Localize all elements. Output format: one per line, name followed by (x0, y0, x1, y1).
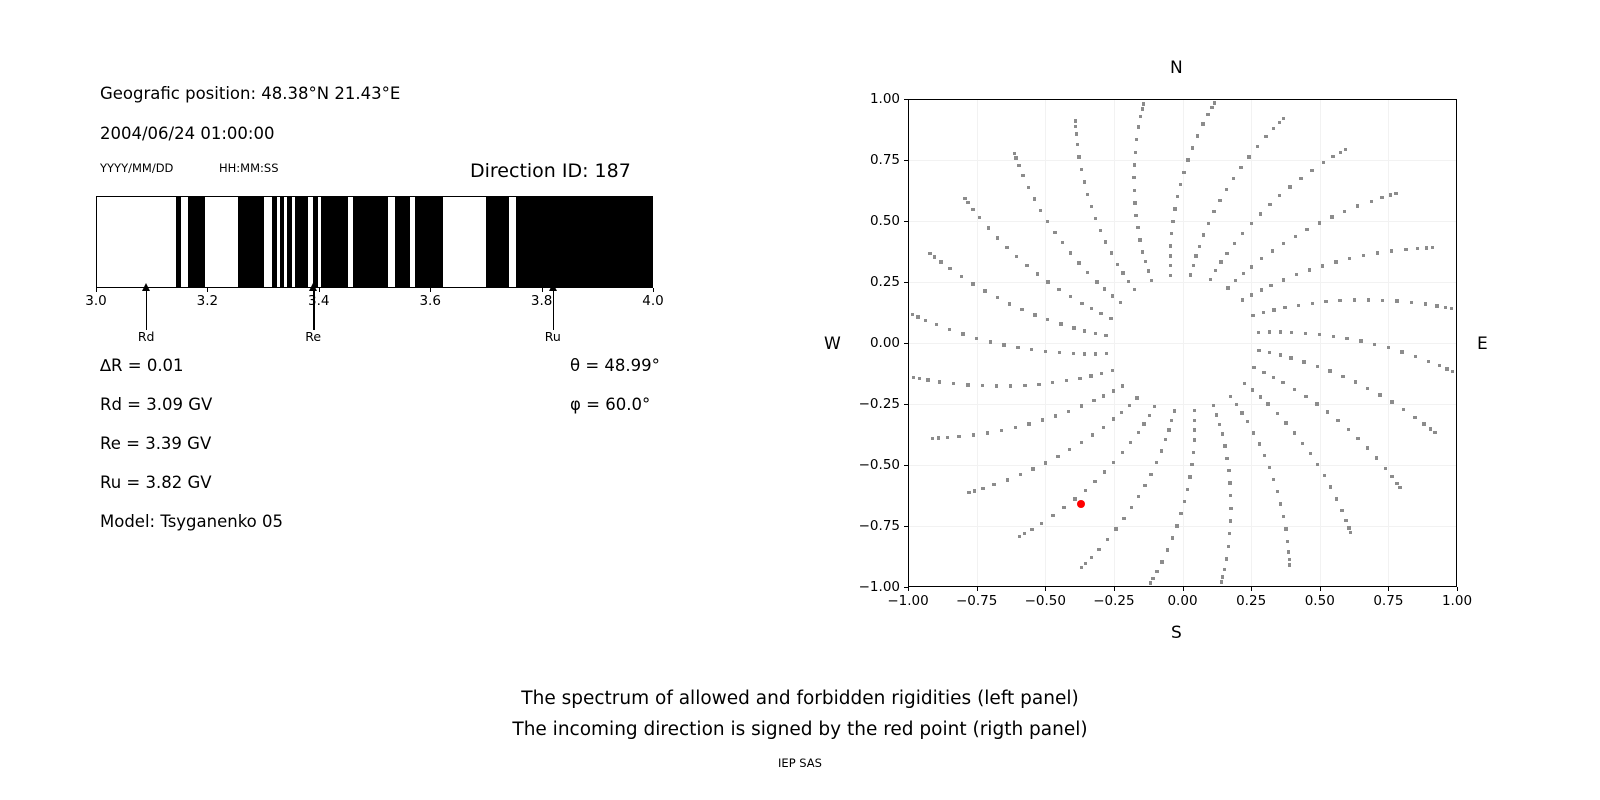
direction-dot (1182, 171, 1185, 174)
direction-dot (1201, 122, 1204, 125)
marker-stem (313, 286, 314, 330)
direction-dot (1310, 169, 1313, 172)
direction-dot (1311, 302, 1314, 305)
direction-dot (1213, 101, 1216, 104)
direction-dot (1109, 317, 1112, 320)
direction-dot (1433, 431, 1436, 434)
direction-dot (1315, 402, 1318, 405)
direction-dot (1141, 107, 1144, 110)
direction-dot (1104, 334, 1107, 337)
direction-dot (1023, 532, 1026, 535)
direction-dot (1133, 163, 1136, 166)
direction-dot (1225, 457, 1228, 460)
direction-dot (1023, 384, 1026, 387)
direction-dot (1210, 106, 1213, 109)
direction-dot (1169, 244, 1172, 247)
direction-dot (1229, 494, 1232, 497)
direction-dot (1212, 210, 1215, 213)
rigidity-tick (96, 288, 97, 292)
direction-dot (1142, 422, 1145, 425)
direction-dot (1103, 470, 1106, 473)
direction-dot (1008, 302, 1011, 305)
direction-dot (1305, 228, 1308, 231)
direction-dot (1086, 193, 1089, 196)
direction-dot (1262, 371, 1265, 374)
direction-dot (1080, 168, 1083, 171)
direction-dot (1030, 348, 1033, 351)
direction-dot (1281, 381, 1284, 384)
direction-dot (1340, 509, 1343, 512)
direction-dot (1276, 412, 1279, 415)
direction-dot (1247, 155, 1250, 158)
direction-dot (1119, 301, 1122, 304)
direction-dot (1179, 183, 1182, 186)
direction-dot (1106, 538, 1109, 541)
direction-dot (1366, 387, 1369, 390)
direction-dot (1268, 351, 1271, 354)
direction-dot (1295, 273, 1298, 276)
direction-dot (1059, 322, 1062, 325)
direction-dot (1193, 438, 1196, 441)
direction-dot (1287, 550, 1290, 553)
marker-stem (553, 286, 554, 330)
direction-dot (1065, 379, 1068, 382)
direction-dot (1366, 446, 1369, 449)
direction-dot (1169, 264, 1172, 267)
direction-dot (973, 489, 976, 492)
direction-dot (1334, 260, 1337, 263)
direction-dot (1002, 343, 1005, 346)
plot-x-tick (1388, 587, 1389, 591)
direction-dot (1293, 388, 1296, 391)
direction-dot (1394, 192, 1397, 195)
direction-dot (1084, 562, 1087, 565)
direction-dot (1272, 308, 1275, 311)
direction-dot (1246, 420, 1249, 423)
direction-dot (1196, 134, 1199, 137)
direction-dot (1111, 294, 1114, 297)
plot-y-tick (904, 282, 908, 283)
direction-dot (1171, 536, 1174, 539)
direction-dot (1166, 548, 1169, 551)
direction-dot (1069, 251, 1072, 254)
direction-dot (1051, 514, 1054, 517)
direction-dot (1173, 409, 1176, 412)
direction-dot (1318, 333, 1321, 336)
plot-y-tick (904, 221, 908, 222)
rigidity-tick (653, 288, 654, 292)
direction-dot (1240, 411, 1243, 414)
direction-dot (1424, 302, 1427, 305)
direction-dot (1151, 577, 1154, 580)
rigidity-tick (430, 288, 431, 292)
arrow-up-icon (309, 283, 317, 291)
direction-dot (1330, 215, 1333, 218)
forbidden-band (295, 196, 308, 288)
datetime-label: 2004/06/24 01:00:00 (100, 124, 274, 143)
date-format-hint: YYYY/MM/DD (100, 161, 173, 175)
direction-dot (1288, 563, 1291, 566)
direction-dot (1190, 463, 1193, 466)
direction-dot (1186, 158, 1189, 161)
direction-dot (1202, 233, 1205, 236)
direction-dot (1037, 383, 1040, 386)
direction-dot (1260, 288, 1263, 291)
direction-dot (971, 282, 974, 285)
direction-dot (1214, 269, 1217, 272)
direction-dot (1090, 307, 1093, 310)
direction-dot (1193, 409, 1196, 412)
direction-dot (1243, 382, 1246, 385)
forbidden-band (395, 196, 410, 288)
direction-dot (1212, 404, 1215, 407)
direction-dot (1080, 404, 1083, 407)
direction-dot (1014, 156, 1017, 159)
direction-dot (1099, 229, 1102, 232)
direction-dot (1241, 298, 1244, 301)
direction-dot (1133, 288, 1136, 291)
direction-dot (1036, 272, 1039, 275)
direction-dot (1083, 352, 1086, 355)
direction-dot (1005, 246, 1008, 249)
direction-dot (1160, 560, 1163, 563)
forbidden-band (353, 196, 388, 288)
direction-dot (1093, 480, 1096, 483)
direction-dot (1206, 113, 1209, 116)
plot-x-tick-label: 0.25 (1236, 593, 1266, 609)
direction-dot (1283, 306, 1286, 309)
direction-dot (1069, 295, 1072, 298)
direction-dot (1155, 461, 1158, 464)
plot-x-tick (1045, 587, 1046, 591)
direction-dot (975, 337, 978, 340)
marker-label: Re (305, 329, 321, 344)
direction-dot (1284, 527, 1287, 530)
direction-dot (1044, 350, 1047, 353)
direction-dot (1016, 346, 1019, 349)
direction-dot (1057, 288, 1060, 291)
direction-dot (1326, 410, 1329, 413)
direction-dot (1144, 260, 1147, 263)
compass-label-east: E (1477, 334, 1488, 354)
direction-dot (1189, 273, 1192, 276)
rigidity-tick-label: 3.6 (419, 293, 440, 309)
direction-dot (1173, 207, 1176, 210)
direction-dot (1153, 405, 1156, 408)
direction-dot (1194, 254, 1197, 257)
direction-dot (1268, 203, 1271, 206)
direction-dot (1143, 484, 1146, 487)
direction-dot (1301, 442, 1304, 445)
plot-y-tick (904, 343, 908, 344)
direction-dot (1321, 264, 1324, 267)
direction-dot (1323, 474, 1326, 477)
direction-dot (1390, 400, 1393, 403)
direction-dot (1304, 395, 1307, 398)
direction-dot (1083, 180, 1086, 183)
direction-dot (1188, 475, 1191, 478)
direction-dot (1288, 185, 1291, 188)
direction-dot (1389, 193, 1392, 196)
stat-delta-r: ∆R = 0.01 (100, 356, 184, 375)
direction-dot (1279, 502, 1282, 505)
direction-dot (933, 255, 936, 258)
direction-dot (1089, 374, 1092, 377)
direction-dot (981, 384, 984, 387)
direction-dot (1112, 461, 1115, 464)
direction-dot (1130, 506, 1133, 509)
rigidity-spectrum-bar (96, 196, 653, 288)
direction-dot (1336, 419, 1339, 422)
direction-dot (1074, 119, 1077, 122)
direction-dot (1444, 306, 1447, 309)
direction-dot (1054, 414, 1057, 417)
direction-dot (1147, 269, 1150, 272)
direction-dot (1242, 272, 1245, 275)
direction-dot (1094, 217, 1097, 220)
direction-dot (1068, 448, 1071, 451)
direction-dot (1373, 343, 1376, 346)
direction-dot (1263, 454, 1266, 457)
direction-dot (1252, 431, 1255, 434)
stat-model: Model: Tsyganenko 05 (100, 512, 283, 531)
direction-dot (1381, 299, 1384, 302)
direction-dot (1067, 410, 1070, 413)
direction-dot (1092, 399, 1095, 402)
direction-dot (1308, 268, 1311, 271)
direction-dot (972, 433, 975, 436)
direction-dot (1183, 500, 1186, 503)
direction-dot (1413, 416, 1416, 419)
direction-dot (1025, 264, 1028, 267)
direction-dot (1288, 558, 1291, 561)
direction-dot (1077, 155, 1080, 158)
plot-y-tick-label: −0.25 (859, 396, 900, 412)
direction-dot (1134, 151, 1137, 154)
direction-dot (1302, 360, 1305, 363)
direction-dot (1250, 222, 1253, 225)
stat-re: Re = 3.39 GV (100, 434, 211, 453)
direction-dot (1271, 249, 1274, 252)
rigidity-tick-label: 3.2 (197, 293, 218, 309)
direction-dot (1258, 442, 1261, 445)
direction-dot (1083, 329, 1086, 332)
direction-dot (1149, 581, 1152, 584)
direction-dot (1380, 196, 1383, 199)
rigidity-tick (542, 288, 543, 292)
direction-dot (1260, 257, 1263, 260)
direction-dot (1040, 522, 1043, 525)
rigidity-tick-label: 3.4 (308, 293, 329, 309)
plot-y-tick (904, 404, 908, 405)
direction-id-label: Direction ID: 187 (470, 160, 631, 182)
direction-dot (1251, 314, 1254, 317)
direction-dot (952, 382, 955, 385)
direction-dot (1370, 200, 1373, 203)
direction-dot (1279, 353, 1282, 356)
direction-dot (1136, 226, 1139, 229)
direction-dot (1164, 438, 1167, 441)
compass-label-north: N (1170, 58, 1183, 78)
direction-dot (1112, 417, 1115, 420)
forbidden-band (321, 196, 348, 288)
direction-dot (912, 376, 915, 379)
direction-dot (1209, 278, 1212, 281)
direction-dot (1228, 481, 1231, 484)
direction-dot (1331, 155, 1334, 158)
direction-dot (1031, 467, 1034, 470)
direction-dot (1234, 279, 1237, 282)
direction-dot (928, 252, 931, 255)
direction-dot (1104, 240, 1107, 243)
direction-dot (1013, 152, 1016, 155)
direction-dot (1427, 360, 1430, 363)
direction-dot (1072, 326, 1075, 329)
direction-dot (1347, 526, 1350, 529)
direction-dot (1384, 467, 1387, 470)
plot-y-tick (904, 160, 908, 161)
direction-dot (1345, 337, 1348, 340)
direction-dot (1192, 451, 1195, 454)
direction-dot (1058, 351, 1061, 354)
direction-dot (1438, 364, 1441, 367)
direction-dot (1095, 280, 1098, 283)
direction-dot (1192, 264, 1195, 267)
rigidity-tick-label: 4.0 (642, 293, 663, 309)
direction-dot (1272, 376, 1275, 379)
direction-dot (1030, 528, 1033, 531)
forbidden-band (486, 196, 509, 288)
direction-dot (1268, 466, 1271, 469)
rigidity-tick (319, 288, 320, 292)
direction-dot (1376, 251, 1379, 254)
direction-dot (1328, 369, 1331, 372)
marker-stem (146, 286, 147, 330)
direction-dot (1225, 188, 1228, 191)
direction-dot (1359, 339, 1362, 342)
direction-dot (996, 236, 999, 239)
direction-dot (1262, 311, 1265, 314)
stat-rd: Rd = 3.09 GV (100, 395, 212, 414)
direction-dot (966, 201, 969, 204)
direction-dot (1074, 125, 1077, 128)
direction-dot (1227, 545, 1230, 548)
marker-label: Ru (545, 329, 561, 344)
direction-dot (1290, 331, 1293, 334)
direction-dot (1269, 284, 1272, 287)
direction-dot (1080, 302, 1083, 305)
plot-y-tick-label: 0.00 (870, 335, 900, 351)
direction-dot (1332, 335, 1335, 338)
rigidity-tick-label: 3.0 (85, 293, 106, 309)
direction-dot (1027, 186, 1030, 189)
direction-dot (1221, 575, 1224, 578)
direction-dot (1239, 166, 1242, 169)
plot-y-tick (904, 99, 908, 100)
forbidden-band (287, 196, 292, 288)
direction-dot (995, 384, 998, 387)
direction-dot (1062, 506, 1065, 509)
plot-y-tick-label: 0.25 (870, 274, 900, 290)
plot-y-tick-label: 1.00 (870, 91, 900, 107)
direction-dot (1228, 532, 1231, 535)
direction-dot (911, 313, 914, 316)
direction-dot (1378, 393, 1381, 396)
direction-dot (1137, 495, 1140, 498)
direction-dot (1353, 298, 1356, 301)
direction-dot (1398, 486, 1401, 489)
direction-dot (1134, 214, 1137, 217)
direction-dot (1250, 293, 1253, 296)
direction-dot (1400, 350, 1403, 353)
direction-dot (1056, 455, 1059, 458)
direction-dot (989, 340, 992, 343)
direction-dot (1422, 422, 1425, 425)
direction-dot (918, 377, 921, 380)
direction-dot (1251, 388, 1254, 391)
plot-y-tick-label: 0.75 (870, 152, 900, 168)
direction-dot (1395, 482, 1398, 485)
direction-dot (1128, 404, 1131, 407)
forbidden-band (313, 196, 318, 288)
direction-dot (963, 197, 966, 200)
direction-dot (1046, 280, 1049, 283)
direction-dot (1193, 428, 1196, 431)
direction-dot (1233, 242, 1236, 245)
plot-x-tick-label: −0.50 (1025, 593, 1066, 609)
incoming-direction-point (1077, 500, 1085, 508)
direction-dot (1169, 274, 1172, 277)
rigidity-axis: 3.03.23.43.63.84.0 RdReRu (96, 288, 653, 289)
direction-dot (1072, 352, 1075, 355)
direction-dot (1341, 375, 1344, 378)
direction-dot (1129, 441, 1132, 444)
stat-phi: φ = 60.0° (570, 395, 650, 414)
plot-x-tick-label: −1.00 (887, 593, 928, 609)
direction-dot (1148, 414, 1151, 417)
direction-dot (1053, 231, 1056, 234)
direction-dot (1316, 463, 1319, 466)
direction-dot (1080, 441, 1083, 444)
direction-dot (1077, 261, 1080, 264)
direction-dot (1344, 519, 1347, 522)
direction-dot (1033, 197, 1036, 200)
direction-dot (1039, 209, 1042, 212)
direction-dot (1318, 221, 1321, 224)
plot-x-tick (1251, 587, 1252, 591)
direction-dot (1150, 279, 1153, 282)
direction-dot (983, 289, 986, 292)
direction-dot (1435, 304, 1438, 307)
direction-dot (1215, 413, 1218, 416)
direction-dot (1257, 331, 1260, 334)
direction-dot (1429, 427, 1432, 430)
direction-dot (1133, 189, 1136, 192)
direction-dot (1347, 428, 1350, 431)
forbidden-band (176, 196, 181, 288)
direction-dot (960, 275, 963, 278)
direction-dot (1264, 135, 1267, 138)
direction-dot (1116, 263, 1119, 266)
direction-dot (1112, 389, 1115, 392)
direction-dot (1097, 548, 1100, 551)
plot-x-tick-label: −0.75 (956, 593, 997, 609)
direction-dot (1257, 349, 1260, 352)
direction-dot (978, 216, 981, 219)
direction-dot (1425, 246, 1428, 249)
caption-line-1: The spectrum of allowed and forbidden ri… (0, 688, 1600, 709)
direction-dot (1139, 115, 1142, 118)
